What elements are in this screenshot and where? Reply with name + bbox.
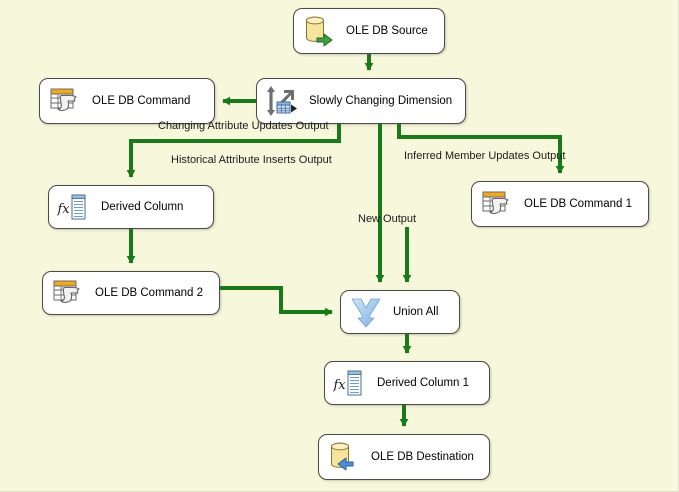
svg-text:fx: fx <box>333 378 346 393</box>
node-label-ole-db-command: OLE DB Command <box>92 95 190 108</box>
node-ole-db-command[interactable]: OLE DB Command <box>39 78 215 124</box>
ole-db-command-icon <box>51 276 85 310</box>
edge-label-inferred-member-updates-output: Inferred Member Updates Output <box>404 151 565 162</box>
connector-layer <box>0 0 679 492</box>
node-derived-column-1[interactable]: fx Derived Column 1 <box>324 361 490 405</box>
node-derived-column[interactable]: fx Derived Column <box>48 185 214 229</box>
derived-column-fx-icon: fx <box>333 366 367 400</box>
node-ole-db-command-2[interactable]: OLE DB Command 2 <box>42 271 220 315</box>
database-cylinder-blue-arrow-icon <box>327 440 361 474</box>
node-ole-db-command-1[interactable]: OLE DB Command 1 <box>471 181 649 227</box>
derived-column-fx-icon: fx <box>57 190 91 224</box>
node-label-ole-db-command-2: OLE DB Command 2 <box>95 287 203 300</box>
ole-db-command-icon <box>480 187 514 221</box>
data-flow-canvas: Changing Attribute Updates Output Histor… <box>0 0 679 492</box>
svg-text:fx: fx <box>57 202 70 217</box>
slowly-changing-dimension-icon <box>265 84 299 118</box>
node-label-derived-column: Derived Column <box>101 201 183 214</box>
node-slowly-changing-dimension[interactable]: Slowly Changing Dimension <box>256 78 466 124</box>
node-ole-db-destination[interactable]: OLE DB Destination <box>318 434 490 480</box>
edge-ole-db-command-2-to-union-all <box>220 288 332 312</box>
node-label-ole-db-destination: OLE DB Destination <box>371 451 474 464</box>
node-union-all[interactable]: Union All <box>340 290 460 334</box>
node-ole-db-source[interactable]: OLE DB Source <box>293 8 445 54</box>
node-label-ole-db-source: OLE DB Source <box>346 25 428 38</box>
edge-label-new-output: New Output <box>358 214 416 225</box>
edge-label-changing-attribute-updates-output: Changing Attribute Updates Output <box>158 121 329 132</box>
edge-label-historical-attribute-inserts-output: Historical Attribute Inserts Output <box>171 155 332 166</box>
union-all-merge-arrow-icon <box>349 295 383 329</box>
ole-db-command-icon <box>48 84 82 118</box>
node-label-ole-db-command-1: OLE DB Command 1 <box>524 198 632 211</box>
node-label-union-all: Union All <box>393 306 438 319</box>
node-label-derived-column-1: Derived Column 1 <box>377 377 469 390</box>
database-cylinder-green-arrow-icon <box>302 14 336 48</box>
edge-scd-to-ole-db-command-1 <box>399 124 560 173</box>
node-label-slowly-changing-dimension: Slowly Changing Dimension <box>309 95 452 108</box>
